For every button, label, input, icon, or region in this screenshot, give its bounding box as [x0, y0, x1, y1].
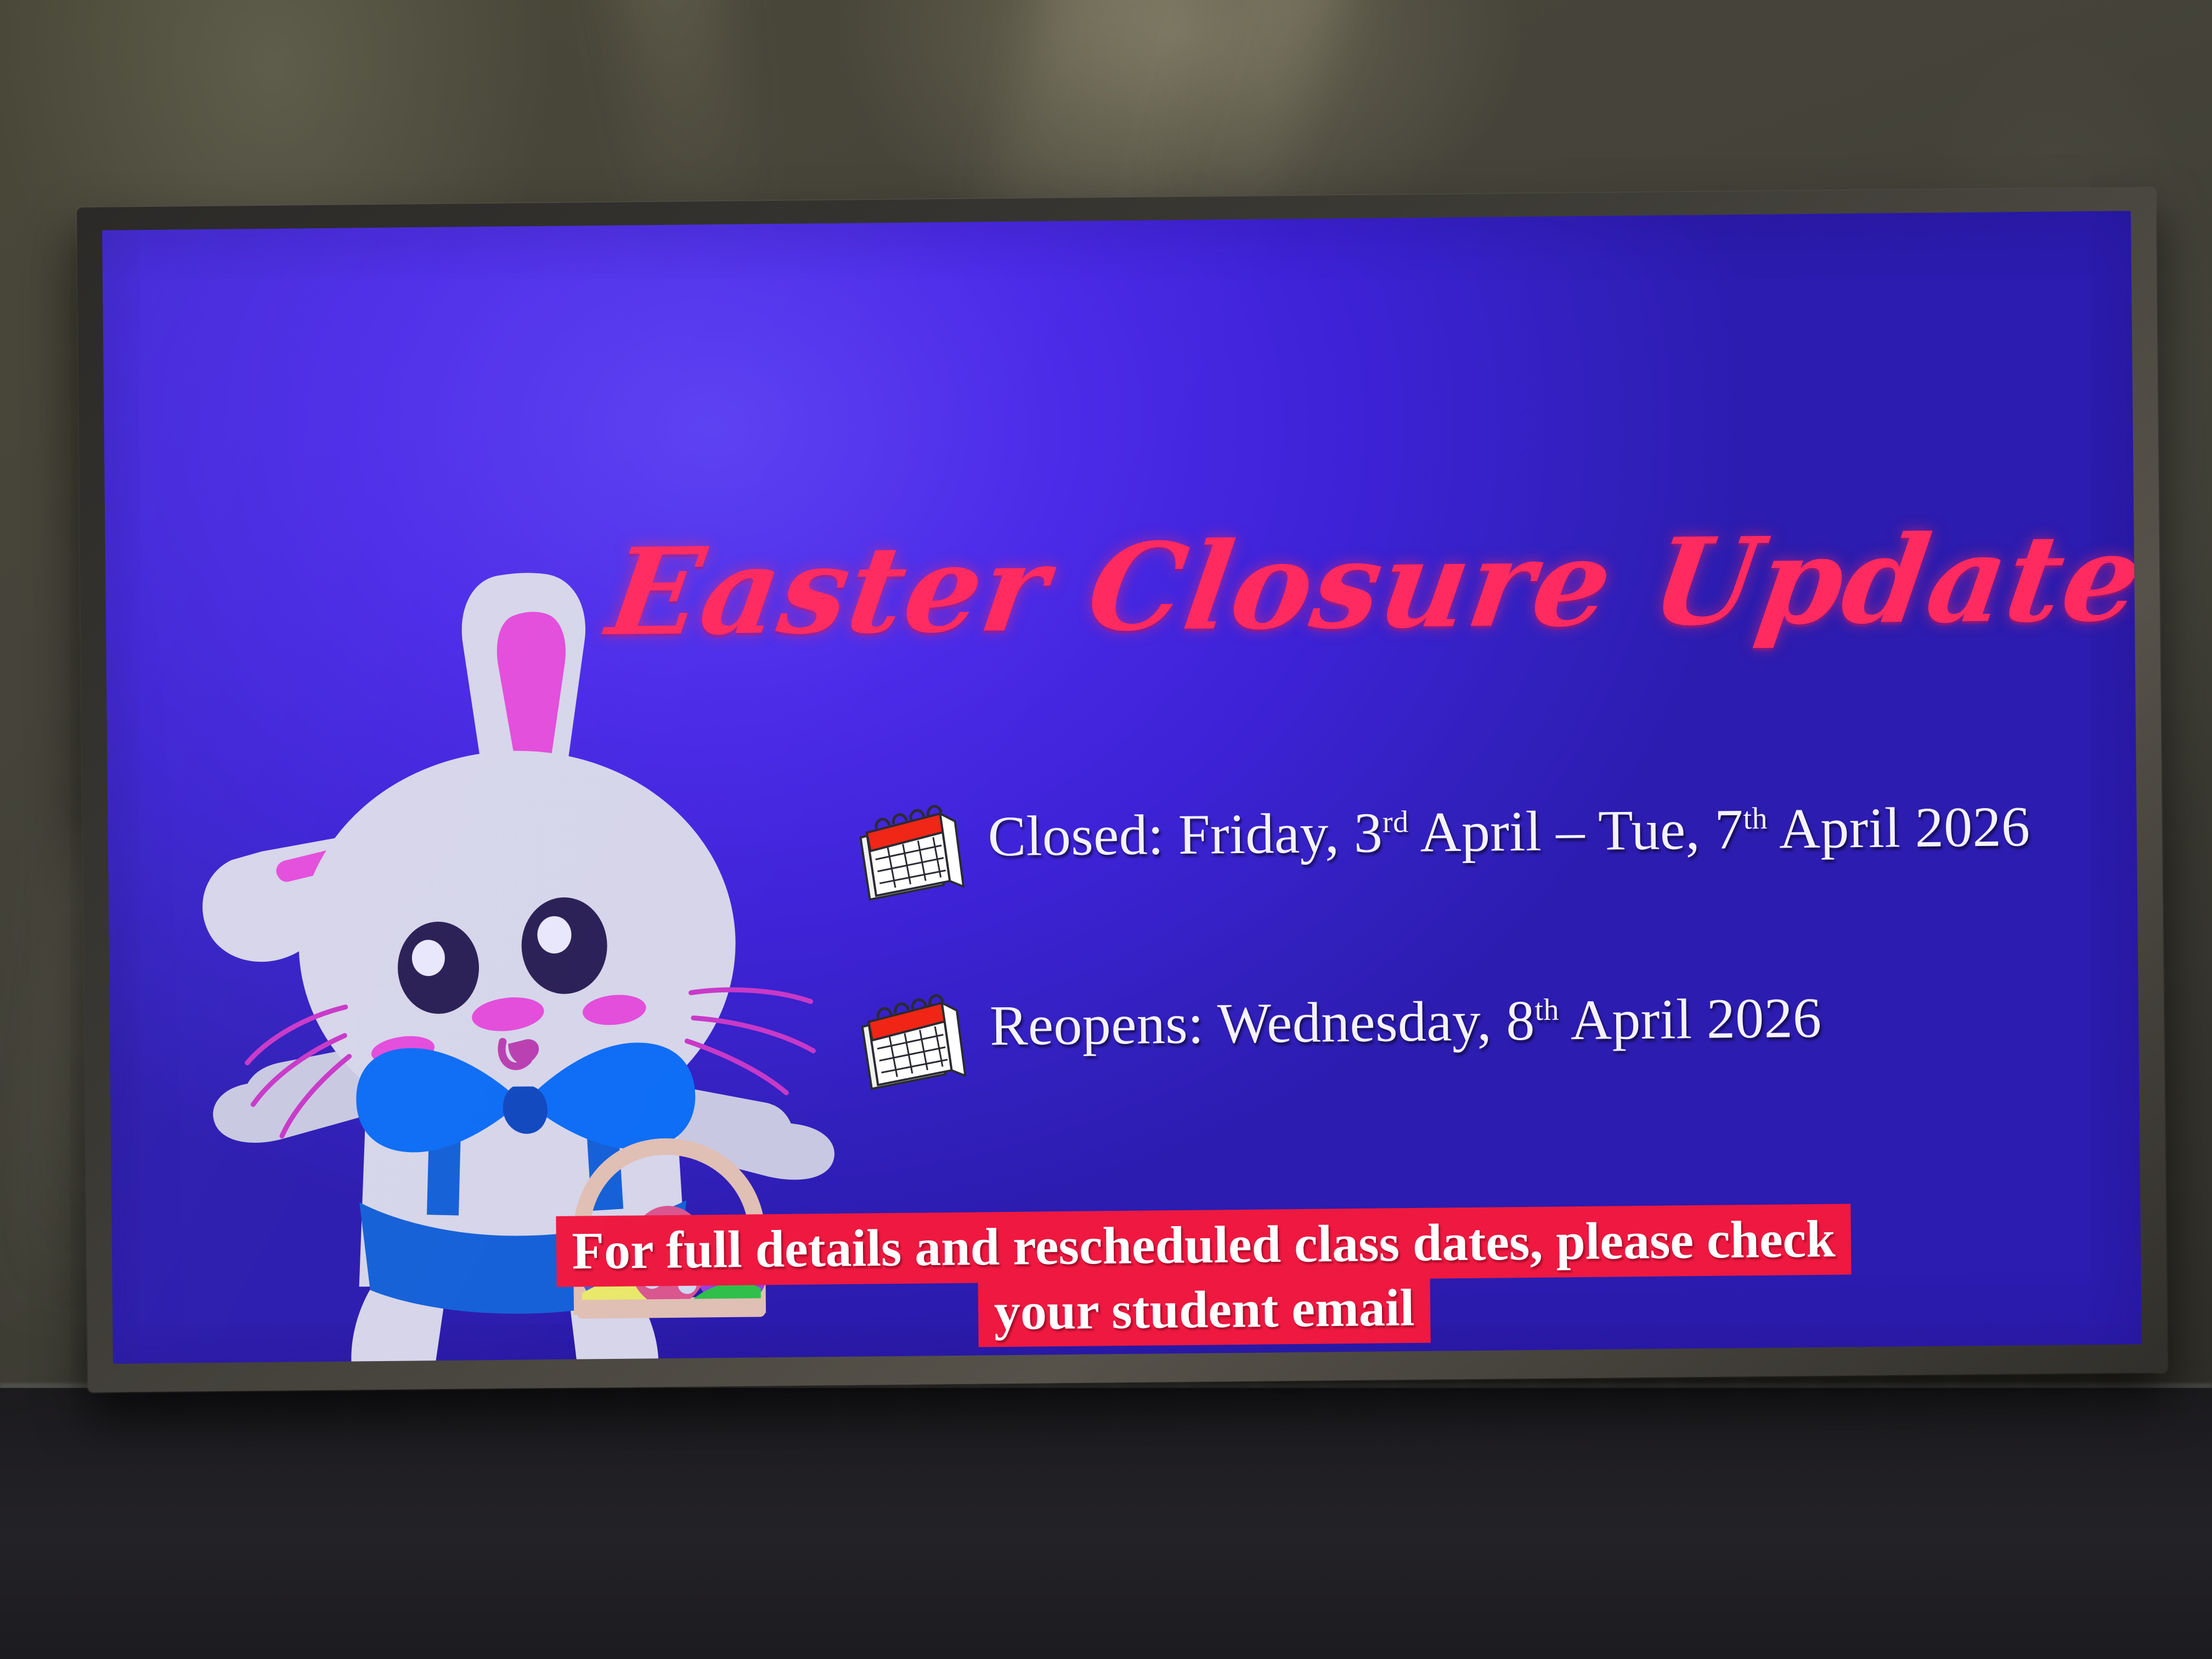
display-screen[interactable]: Easter Closure Update [102, 211, 2142, 1363]
page-title: Easter Closure Update [601, 521, 1853, 652]
lower-wall-panel [0, 1388, 2212, 1659]
footer-callout: For full details and rescheduled class d… [495, 1206, 1912, 1348]
bullet-row-reopens: Reopens: Wednesday, 8th April 2026 [856, 981, 2142, 1091]
ordinal-suffix: th [1743, 802, 1768, 836]
wall-display: Easter Closure Update [77, 188, 2168, 1392]
ordinal-suffix: th [1534, 993, 1559, 1027]
bullet-text-reopens: Reopens: Wednesday, 8th April 2026 [990, 985, 1822, 1060]
footer-line-2: your student email [978, 1272, 1431, 1347]
calendar-icon [854, 804, 964, 902]
bullet-row-closed: Closed: Friday, 3rd April – Tue, 7th Apr… [854, 792, 2142, 902]
ordinal-suffix: rd [1383, 805, 1409, 839]
calendar-icon [856, 993, 967, 1092]
bullet-text-closed: Closed: Friday, 3rd April – Tue, 7th Apr… [988, 793, 2030, 871]
